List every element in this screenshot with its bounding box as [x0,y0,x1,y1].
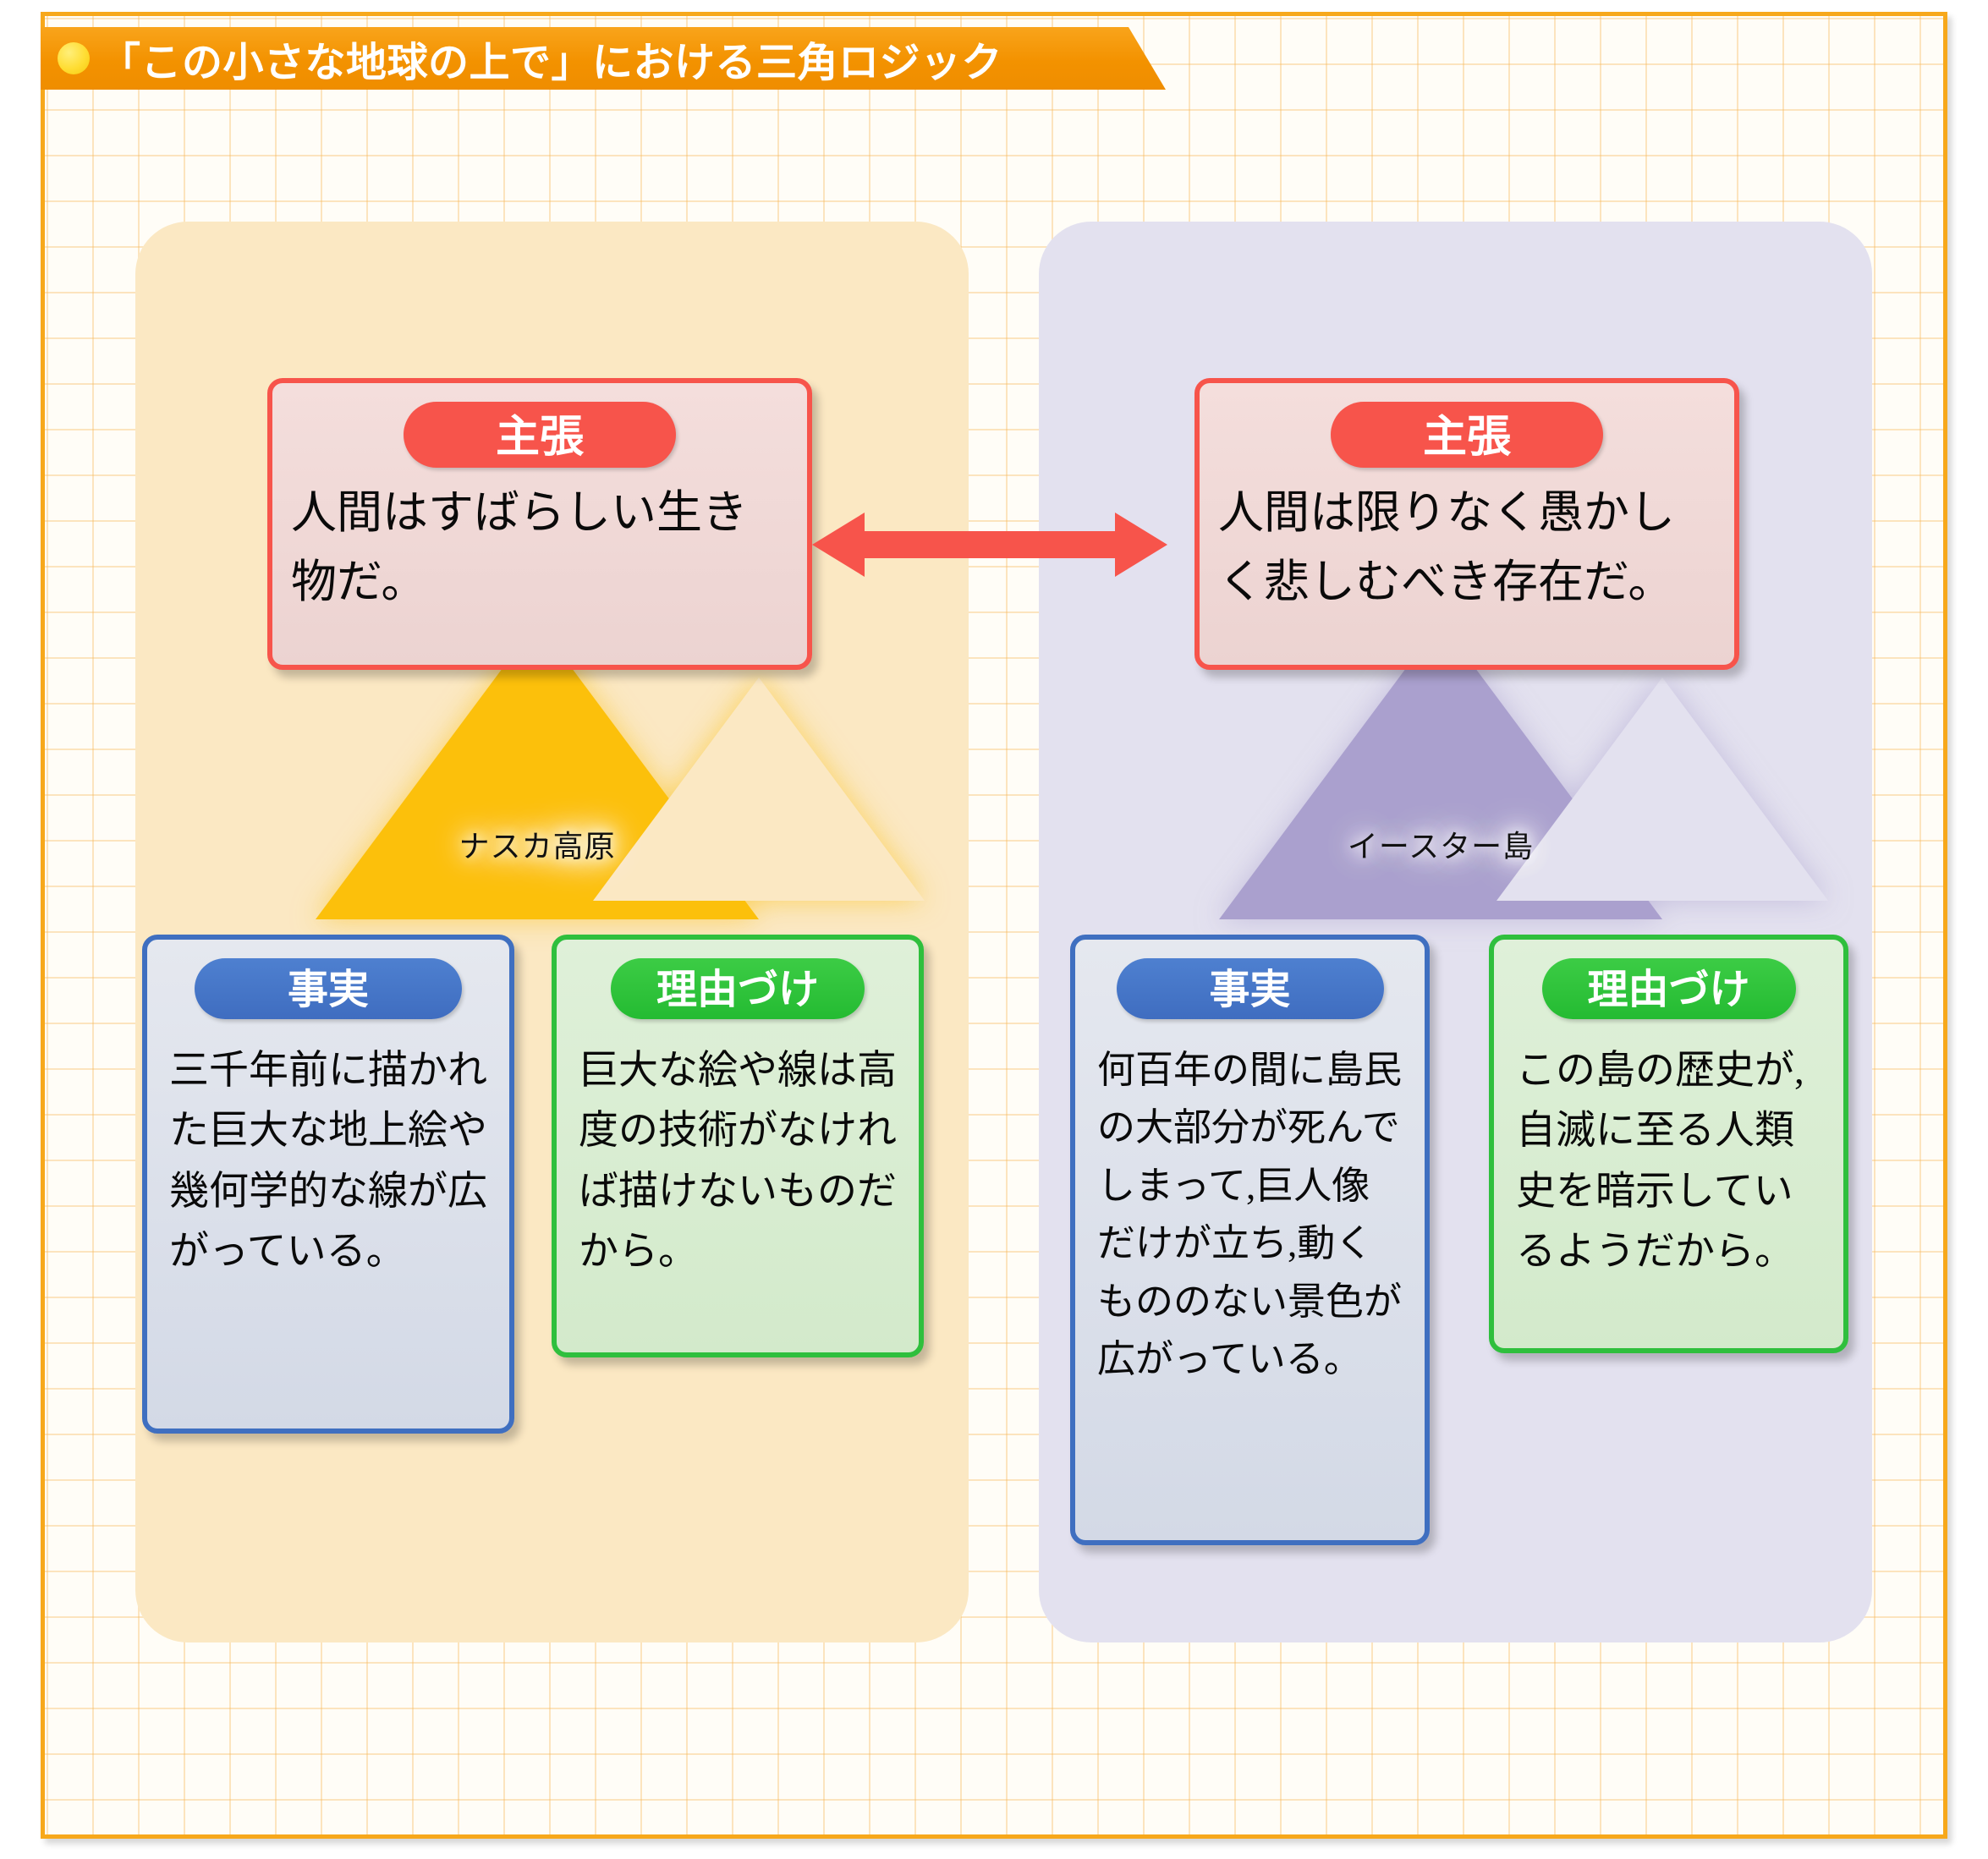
reason-card-right[interactable]: 理由づけ この島の歴史が,自滅に至る人類史を暗示しているようだから。 [1489,935,1848,1353]
reason-badge-left: 理由づけ [611,958,865,1019]
reason-text-left: 巨大な絵や線は高度の技術がなければ描けないものだから。 [579,1041,897,1283]
fact-text-left: 三千年前に描かれた巨大な地上絵や幾何学的な線が広がっている。 [169,1041,487,1283]
triangle-label-right: イースター島 [1263,822,1618,866]
fact-card-right[interactable]: 事実 何百年の間に島民の大部分が死んでしまって,巨人像だけが立ち,動くもののない… [1070,935,1430,1545]
claim-card-right[interactable]: 主張 人間は限りなく愚かしく悲しむべき存在だ。 [1194,378,1739,670]
page-title: 「この小さな地球の上で」における三角ロジック [100,29,1002,88]
reason-card-left[interactable]: 理由づけ 巨大な絵や線は高度の技術がなければ描けないものだから。 [552,935,924,1357]
claim-text-left: 人間はすばらしい生き物だ。 [291,478,788,617]
fact-badge-left: 事実 [195,958,462,1019]
reason-text-right: この島の歴史が,自滅に至る人類史を暗示しているようだから。 [1516,1041,1821,1283]
yellow-circle-icon [58,42,90,74]
triangle-label-left: ナスカ高原 [360,822,715,866]
fact-badge-right: 事実 [1117,958,1384,1019]
fact-card-left[interactable]: 事実 三千年前に描かれた巨大な地上絵や幾何学的な線が広がっている。 [142,935,514,1434]
claim-badge-left: 主張 [404,402,676,468]
page-title-bar: 「この小さな地球の上で」における三角ロジック [41,27,1166,90]
fact-text-right: 何百年の間に島民の大部分が死んでしまって,巨人像だけが立ち,動くもののない景色が… [1097,1041,1403,1388]
reason-badge-right: 理由づけ [1542,958,1796,1019]
double-headed-arrow-icon [812,507,1167,582]
claim-text-right: 人間は限りなく愚かしく悲しむべき存在だ。 [1218,478,1716,617]
claim-badge-right: 主張 [1331,402,1603,468]
triangle-inner-left [593,677,925,901]
triangle-inner-right [1496,677,1828,901]
claim-card-left[interactable]: 主張 人間はすばらしい生き物だ。 [267,378,812,670]
